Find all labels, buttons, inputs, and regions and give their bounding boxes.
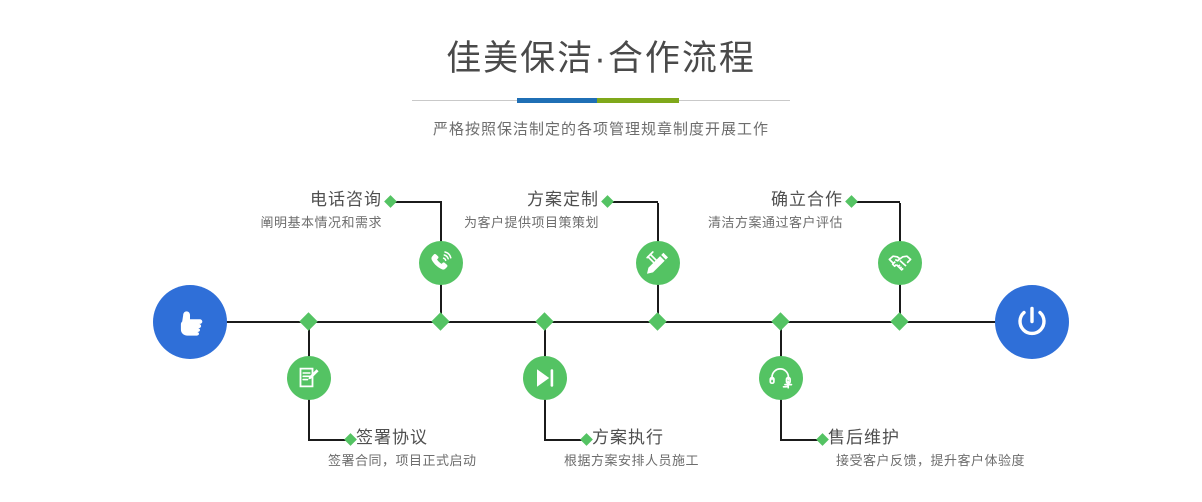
step-title-3: 方案定制	[370, 189, 599, 211]
label-tip-diamond-2	[344, 433, 357, 446]
axis-diamond-2	[299, 312, 317, 330]
title-divider	[412, 94, 790, 108]
axis-diamond-1	[431, 312, 449, 330]
axis-diamond-5	[890, 312, 908, 330]
axis-diamond-6	[771, 312, 789, 330]
phone-consult-icon	[428, 250, 454, 276]
page-subtitle: 严格按照保洁制定的各项管理规章制度开展工作	[0, 120, 1202, 140]
plan-design-icon	[645, 250, 671, 276]
axis-diamond-3	[648, 312, 666, 330]
divider-segment-green	[597, 98, 679, 103]
step-node-6[interactable]	[759, 356, 803, 400]
step-node-4[interactable]	[523, 356, 567, 400]
customer-service-icon	[768, 365, 794, 391]
step-title-1: 电话咨询	[150, 189, 382, 211]
step-title-4: 方案执行	[592, 427, 854, 449]
step-title-6: 售后维护	[828, 427, 1128, 449]
sign-document-icon	[296, 365, 322, 391]
step-desc-5: 清洁方案通过客户评估	[612, 213, 843, 233]
step-node-2[interactable]	[287, 356, 331, 400]
timeline-start-node[interactable]	[153, 285, 227, 359]
step-label-3: 方案定制 为客户提供项目策策划	[370, 189, 599, 233]
label-elbow-h-5	[852, 201, 900, 203]
label-tip-diamond-5	[845, 195, 858, 208]
header: 佳美保洁·合作流程 严格按照保洁制定的各项管理规章制度开展工作	[0, 0, 1202, 140]
step-label-1: 电话咨询 阐明基本情况和需求	[150, 189, 382, 233]
step-label-5: 确立合作 清洁方案通过客户评估	[612, 189, 843, 233]
step-desc-3: 为客户提供项目策策划	[370, 213, 599, 233]
step-node-1[interactable]	[419, 241, 463, 285]
step-title-5: 确立合作	[612, 189, 843, 211]
step-label-4: 方案执行 根据方案安排人员施工	[592, 427, 854, 471]
step-desc-4: 根据方案安排人员施工	[564, 451, 854, 471]
power-icon	[1011, 301, 1053, 343]
handshake-icon	[887, 250, 913, 276]
divider-segment-blue	[517, 98, 597, 103]
axis-diamond-4	[535, 312, 553, 330]
step-label-6: 售后维护 接受客户反馈，提升客户体验度	[828, 427, 1128, 471]
flowchart-canvas: 佳美保洁·合作流程 严格按照保洁制定的各项管理规章制度开展工作	[0, 0, 1202, 502]
step-node-3[interactable]	[636, 241, 680, 285]
step-desc-6: 接受客户反馈，提升客户体验度	[836, 451, 1128, 471]
execute-play-icon	[532, 365, 558, 391]
step-desc-1: 阐明基本情况和需求	[150, 213, 382, 233]
step-node-5[interactable]	[878, 241, 922, 285]
hand-pointing-right-icon	[170, 302, 210, 342]
step-title-2: 签署协议	[356, 427, 616, 449]
page-title: 佳美保洁·合作流程	[0, 38, 1202, 80]
timeline-end-node[interactable]	[995, 285, 1069, 359]
